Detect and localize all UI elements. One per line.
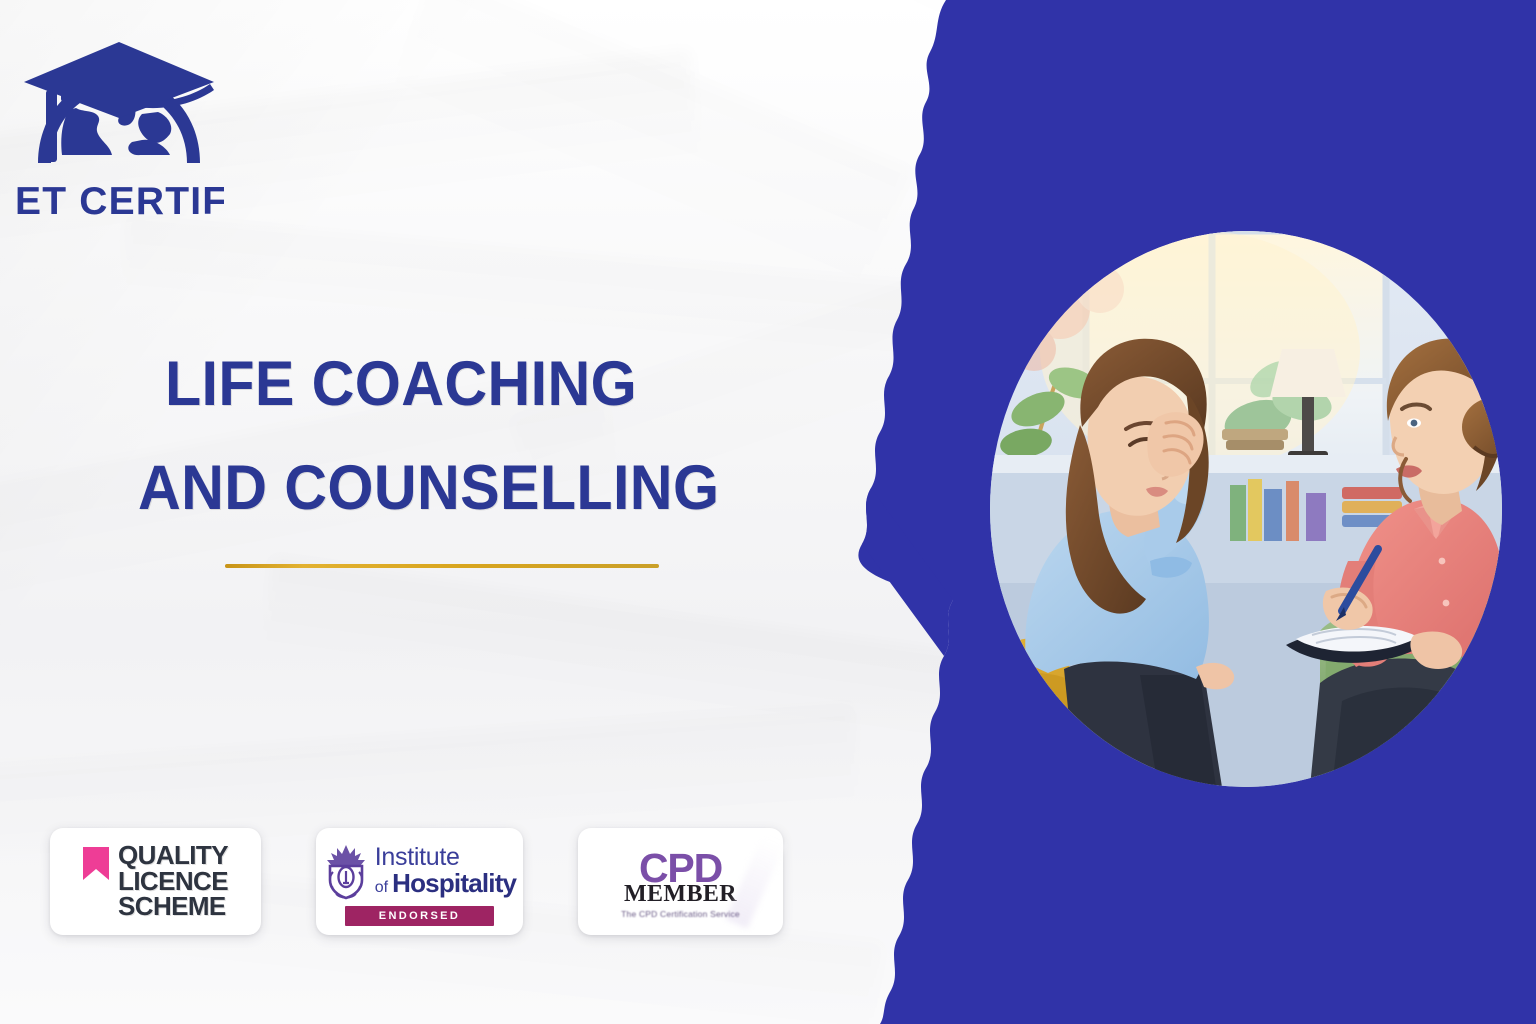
qls-line-1: QUALITY (118, 843, 228, 869)
badge-quality-licence-scheme[interactable]: QUALITY LICENCE SCHEME (50, 828, 261, 935)
badge-cpd-member[interactable]: CPD MEMBER The CPD Certification Service (578, 828, 783, 935)
course-promo-banner: GET CERTIFY LIFE COACHING AND COUNSELLIN… (0, 0, 1536, 1024)
qls-line-3: SCHEME (118, 894, 228, 920)
headline-line-2: AND COUNSELLING (138, 456, 746, 520)
cpd-caption: The CPD Certification Service (621, 909, 740, 920)
headline-block: LIFE COACHING AND COUNSELLING (165, 352, 785, 521)
headline-line-1: LIFE COACHING (165, 352, 748, 416)
ioh-word-hospitality: Hospitality (392, 870, 516, 896)
graduation-cap-globe-icon (24, 42, 214, 163)
badge-institute-of-hospitality[interactable]: Institute of Hospitality ENDORSED (316, 828, 523, 935)
logo-text: GET CERTIFY (14, 180, 224, 223)
brand-logo[interactable]: GET CERTIFY (14, 30, 224, 225)
counselling-session-image (990, 231, 1502, 787)
heraldic-crest-icon (323, 842, 369, 900)
ioh-word-institute: Institute (375, 845, 516, 870)
ioh-word-of: of (375, 880, 388, 896)
ioh-endorsed-ribbon: ENDORSED (345, 906, 495, 926)
gold-divider-rule (225, 564, 659, 568)
accreditation-badges: QUALITY LICENCE SCHEME (50, 828, 783, 935)
bookmark-flag-icon (83, 847, 109, 880)
cpd-title: CPD (639, 850, 722, 886)
